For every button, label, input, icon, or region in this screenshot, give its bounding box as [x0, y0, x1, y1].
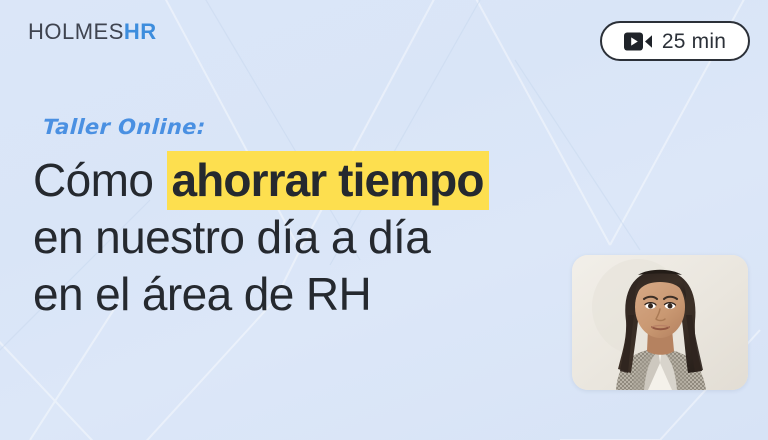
eyebrow-label: Taller Online:: [42, 117, 206, 138]
video-camera-icon: [624, 32, 652, 51]
speaker-portrait: [572, 255, 748, 390]
brand-logo-primary: HOLMES: [28, 19, 124, 44]
duration-label: 25 min: [662, 31, 726, 52]
duration-badge: 25 min: [600, 21, 750, 61]
headline-block: Cómo ahorrar tiempo en nuestro día a día…: [33, 152, 593, 323]
speaker-portrait-image: [572, 255, 748, 390]
webinar-promo-slide: HOLMESHR 25 min Taller Online: Cómo ahor…: [0, 0, 768, 440]
headline-line-1: Cómo ahorrar tiempo: [33, 152, 593, 209]
headline-line-2: en nuestro día a día: [33, 209, 593, 266]
headline-line-3: en el área de RH: [33, 266, 593, 323]
headline-line-1-plain: Cómo: [33, 154, 166, 206]
brand-logo: HOLMESHR: [28, 21, 157, 43]
brand-logo-accent: HR: [124, 19, 157, 44]
headline-highlight: ahorrar tiempo: [167, 151, 489, 210]
